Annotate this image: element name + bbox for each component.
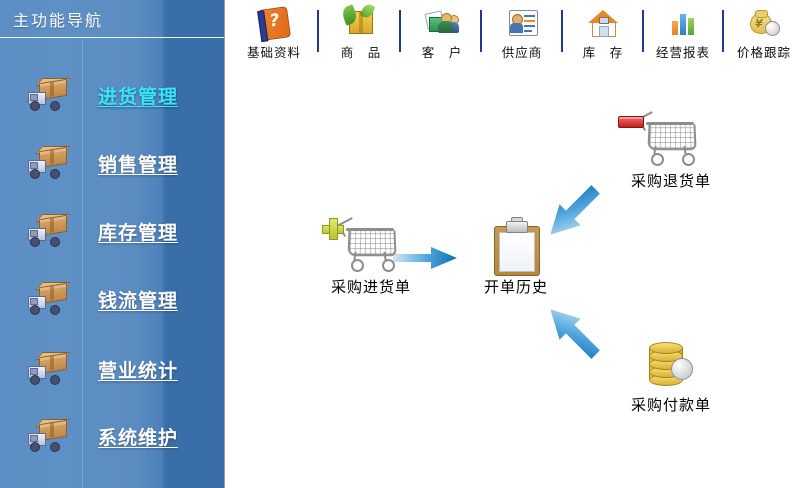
toolbar-item-label: 价格跟踪 <box>737 42 791 61</box>
sidebar-item-purchase[interactable]: 进货管理 <box>0 74 225 118</box>
toolbar-item-supplier[interactable]: 供应商 <box>488 3 556 63</box>
sidebar-title: 主功能导航 <box>13 7 103 31</box>
sidebar-item-label: 销售管理 <box>98 150 178 177</box>
toolbar-separator <box>642 10 644 52</box>
node-billing-history[interactable]: 开单历史 <box>461 218 571 298</box>
toolbar-item-label: 经营报表 <box>656 42 710 61</box>
node-label: 采购退货单 <box>631 170 711 191</box>
toolbar-item-goods[interactable]: 商 品 <box>327 3 395 63</box>
toolbar-item-basic-data[interactable]: 基础资料 <box>240 3 308 63</box>
sidebar-title-divider <box>0 37 224 38</box>
truck-icon <box>26 421 70 453</box>
toolbar-separator <box>399 10 401 52</box>
top-toolbar: 基础资料 商 品 客 户 供应商 库 存 <box>226 0 809 70</box>
toolbar-item-label: 供应商 <box>502 42 543 61</box>
node-purchase-payment[interactable]: 采购付款单 <box>611 336 731 416</box>
toolbar-item-stock[interactable]: 库 存 <box>569 3 637 63</box>
application-window: 主功能导航 进货管理 销售管理 库存管理 钱流管理 <box>0 0 809 488</box>
sidebar-item-label: 营业统计 <box>98 356 178 383</box>
warehouse-home-icon <box>586 7 620 39</box>
sidebar-item-cashflow[interactable]: 钱流管理 <box>0 278 225 322</box>
toolbar-item-customers[interactable]: 客 户 <box>408 3 476 63</box>
truck-icon <box>26 284 70 316</box>
toolbar-item-label: 基础资料 <box>247 42 301 61</box>
node-label: 采购进货单 <box>331 276 411 297</box>
toolbar-separator <box>722 10 724 52</box>
customers-icon <box>425 7 459 39</box>
sidebar-item-label: 库存管理 <box>98 218 178 245</box>
sidebar-item-system[interactable]: 系统维护 <box>0 415 225 459</box>
truck-icon <box>26 216 70 248</box>
toolbar-item-price-tracking[interactable]: ¥ 价格跟踪 <box>730 3 798 63</box>
sidebar-item-label: 系统维护 <box>98 423 178 450</box>
toolbar-item-label: 客 户 <box>422 42 463 61</box>
money-bag-icon: ¥ <box>747 7 781 39</box>
node-purchase-return[interactable]: 采购退货单 <box>611 112 731 192</box>
truck-icon <box>26 80 70 112</box>
arrow-payment-to-history <box>533 292 613 372</box>
node-label: 开单历史 <box>484 276 548 297</box>
toolbar-separator <box>561 10 563 52</box>
node-purchase-order[interactable]: 采购进货单 <box>311 218 431 298</box>
truck-icon <box>26 354 70 386</box>
supplier-card-icon <box>505 7 539 39</box>
workflow-canvas: 采购进货单 开单历史 采购退货单 <box>226 70 809 488</box>
sidebar-item-statistics[interactable]: 营业统计 <box>0 348 225 392</box>
toolbar-item-reports[interactable]: 经营报表 <box>649 3 717 63</box>
truck-icon <box>26 148 70 180</box>
toolbar-separator <box>317 10 319 52</box>
bar-chart-icon <box>666 7 700 39</box>
sidebar-item-label: 进货管理 <box>98 82 178 109</box>
orange-book-icon <box>257 7 291 39</box>
toolbar-separator <box>480 10 482 52</box>
sidebar-item-sales[interactable]: 销售管理 <box>0 142 225 186</box>
toolbar-item-label: 库 存 <box>583 42 624 61</box>
sidebar: 主功能导航 进货管理 销售管理 库存管理 钱流管理 <box>0 0 225 488</box>
goods-box-icon <box>344 7 378 39</box>
sidebar-item-inventory[interactable]: 库存管理 <box>0 210 225 254</box>
sidebar-item-label: 钱流管理 <box>98 286 178 313</box>
toolbar-item-label: 商 品 <box>341 42 382 61</box>
node-label: 采购付款单 <box>631 394 711 415</box>
